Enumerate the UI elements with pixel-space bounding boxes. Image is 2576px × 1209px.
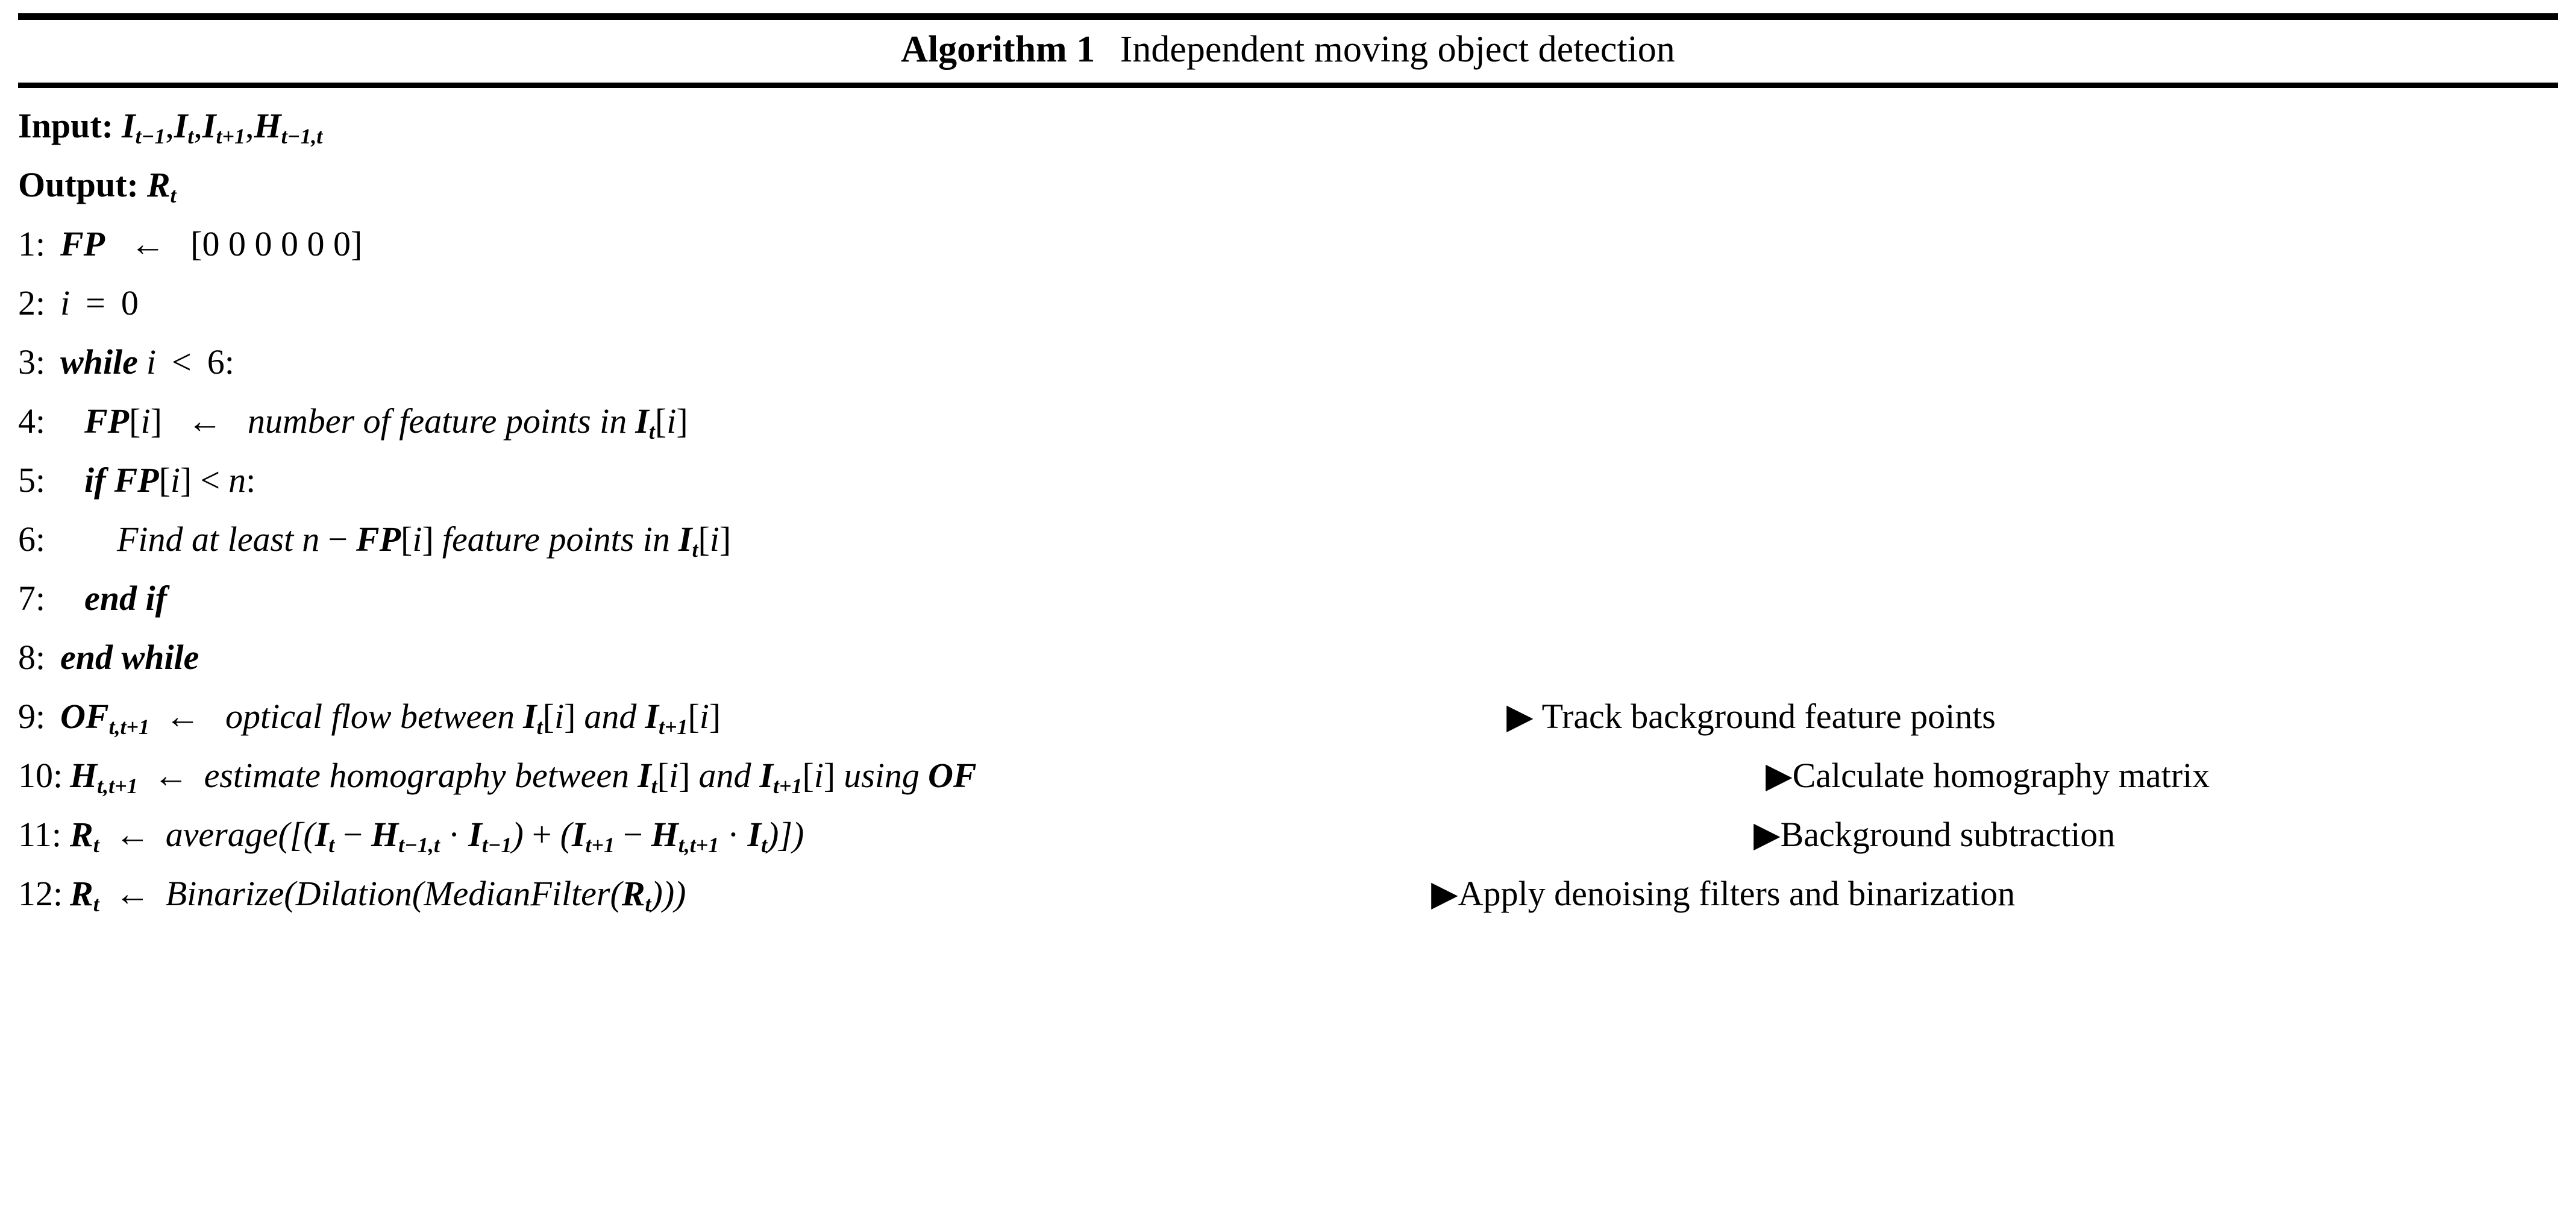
algorithm-line-2: 2:i=0 (18, 274, 2558, 333)
var-H-10: Ht,t+1 (70, 756, 138, 795)
algorithm-line-5: 5:ifFP[i]<n: (18, 451, 2558, 510)
var-It1-10: It+1 (759, 756, 802, 795)
minus-symbol-6: − (328, 520, 348, 559)
comment-text-9: Track background feature points (1542, 697, 1996, 736)
phrase-optical-flow-between: optical flow between (225, 697, 515, 736)
keyword-end-while: end while (60, 638, 199, 677)
phrase-number-of-feature-points-in: number of feature points in (248, 401, 627, 441)
comment-line-10: ▶Calculate homography matrix (1766, 746, 2210, 805)
token-six: 6 (207, 342, 225, 382)
index-i-9: i (554, 697, 564, 736)
index-i-10: i (669, 756, 678, 795)
algorithm-line-8: 8:end while (18, 628, 2558, 687)
line-number-12: 12: (18, 864, 70, 923)
input-label: Input: (18, 106, 113, 145)
input-sep-3: , (245, 106, 254, 145)
func-binarize: Binarize (166, 874, 284, 913)
var-Rt-12: Rt (70, 874, 99, 913)
index-i-4b: i (666, 401, 676, 441)
comment-line-9: ▶Track background feature points (1506, 687, 1996, 746)
algorithm-title-keyword: Algorithm 1 (901, 29, 1095, 70)
header-rule (18, 83, 2558, 88)
token-of-10: OF (928, 756, 977, 795)
input-var-4: Ht−1,t (254, 106, 322, 145)
token-fp: FP (60, 224, 105, 263)
input-sep-1: , (165, 106, 174, 145)
algorithm-title: Algorithm 1 Independent moving object de… (18, 20, 2558, 80)
word-and-9: and (584, 697, 636, 736)
triangle-right-icon-12: ▶ (1431, 874, 1458, 913)
index-i-6: i (412, 520, 422, 559)
line-number-9: 9: (18, 687, 52, 746)
var-It-9: It (523, 697, 543, 736)
zeros-vector: [0 0 0 0 0 0] (190, 224, 362, 263)
keyword-end-if: end if (84, 579, 167, 618)
triangle-right-icon-10: ▶ (1766, 756, 1793, 795)
var-It-11b: It (748, 815, 768, 854)
minus-symbol-11a: − (343, 815, 363, 854)
var-It-1-11: It−1 (468, 815, 512, 854)
token-i: i (60, 283, 70, 322)
line-number-6: 6: (18, 510, 52, 569)
output-label: Output: (18, 165, 139, 204)
algorithm-line-3: 3:whilei<6: (18, 333, 2558, 392)
func-median-filter: MedianFilter (424, 874, 610, 913)
input-var-3: It+1 (202, 106, 245, 145)
index-i-6b: i (710, 520, 719, 559)
line-number-1: 1: (18, 215, 52, 274)
comment-text-12: Apply denoising filters and binarization (1458, 874, 2016, 913)
line-number-5: 5: (18, 451, 52, 510)
token-fp-6: FP (356, 520, 401, 559)
var-OF-9: OFt,t+1 (60, 697, 149, 736)
line-number-8: 8: (18, 628, 52, 687)
line-number-7: 7: (18, 569, 52, 628)
arrow-left-icon: ← (130, 224, 165, 263)
algorithm-line-7: 7:end if (18, 569, 2558, 628)
line-number-11: 11: (18, 805, 70, 864)
algorithm-line-11: 11:Rt←average([(It−Ht−1,t·It−1)+(It+1−Ht… (18, 805, 2558, 864)
token-i-3: i (146, 342, 156, 382)
cdot-symbol-11b: · (727, 815, 739, 854)
token-n-6: n (302, 520, 319, 559)
var-It-10: It (638, 756, 657, 795)
index-i-10b: i (814, 756, 824, 795)
arrow-left-icon-12: ← (115, 874, 150, 913)
triangle-right-icon-9: ▶ (1506, 697, 1534, 736)
token-n-5: n (228, 460, 246, 500)
algorithm-line-9: 9:OFt,t+1←optical flow betweenIt[i]andIt… (18, 687, 2558, 746)
func-dilation: Dilation (296, 874, 412, 913)
algorithm-block: Algorithm 1 Independent moving object de… (18, 13, 2558, 923)
cdot-symbol-11a: · (448, 815, 460, 854)
word-and-10: and (698, 756, 751, 795)
input-var-1: It−1 (122, 106, 165, 145)
arrow-left-icon-11: ← (115, 815, 150, 854)
index-i-4: i (140, 401, 150, 441)
var-It1-11: It+1 (572, 815, 615, 854)
token-zero: 0 (121, 283, 139, 322)
output-line: Output:Rt (18, 155, 2558, 215)
algorithm-line-6: 6:Find at leastn−FP[i]feature points inI… (18, 510, 2558, 569)
line-number-4: 4: (18, 392, 52, 451)
algorithm-line-10: 10:Ht,t+1←estimate homography betweenIt[… (18, 746, 2558, 805)
var-Rt-11: Rt (70, 815, 99, 854)
input-line: Input:It−1,It,It+1,Ht−1,t (18, 96, 2558, 155)
index-i-9b: i (700, 697, 709, 736)
line-number-2: 2: (18, 274, 52, 333)
comment-line-12: ▶Apply denoising filters and binarizatio… (1431, 864, 2015, 923)
phrase-find-at-least: Find at least (117, 520, 293, 559)
less-than-symbol-5: < (200, 460, 220, 500)
output-var: Rt (147, 165, 177, 204)
var-It-11: It (315, 815, 335, 854)
algorithm-line-4: 4:FP[i]←number of feature points inIt[i] (18, 392, 2558, 451)
comment-text-11: Background subtraction (1781, 815, 2116, 854)
equals-symbol: = (86, 283, 105, 322)
phrase-estimate-homography-between: estimate homography between (204, 756, 630, 795)
var-H-11a: Ht−1,t (371, 815, 440, 854)
minus-symbol-11b: − (623, 815, 643, 854)
less-than-symbol: < (172, 342, 192, 382)
phrase-feature-points-in: feature points in (442, 520, 670, 559)
comment-text-10: Calculate homography matrix (1793, 756, 2210, 795)
input-var-2: It (174, 106, 194, 145)
token-fp-5: FP (114, 460, 158, 500)
var-It-4: It (635, 401, 655, 441)
triangle-right-icon-11: ▶ (1753, 815, 1781, 854)
var-Rt-12b: Rt (622, 874, 651, 913)
algorithm-line-12: 12:Rt←Binarize(Dilation(MedianFilter(Rt)… (18, 864, 2558, 923)
arrow-left-icon-10: ← (154, 756, 189, 795)
arrow-left-icon-9: ← (165, 697, 200, 736)
index-i-5: i (171, 460, 180, 500)
keyword-if: if (84, 460, 105, 500)
token-fp-4: FP (84, 401, 129, 441)
line-number-3: 3: (18, 333, 52, 392)
line-number-10: 10: (18, 746, 70, 805)
input-sep-2: , (193, 106, 202, 145)
var-It1-9: It+1 (645, 697, 688, 736)
func-average: average (166, 815, 278, 854)
top-rule (18, 13, 2558, 20)
arrow-left-icon-4: ← (187, 401, 222, 441)
algorithm-title-text: Independent moving object detection (1120, 29, 1675, 70)
algorithm-body: Input:It−1,It,It+1,Ht−1,t Output:Rt 1:FP… (18, 88, 2558, 923)
var-H-11b: Ht,t+1 (651, 815, 719, 854)
var-It-6: It (678, 520, 698, 559)
comment-line-11: ▶Background subtraction (1753, 805, 2115, 864)
keyword-while: while (60, 342, 138, 382)
word-using-10: using (844, 756, 920, 795)
algorithm-line-1: 1:FP←[0 0 0 0 0 0] (18, 215, 2558, 274)
plus-symbol-11: + (532, 815, 552, 854)
